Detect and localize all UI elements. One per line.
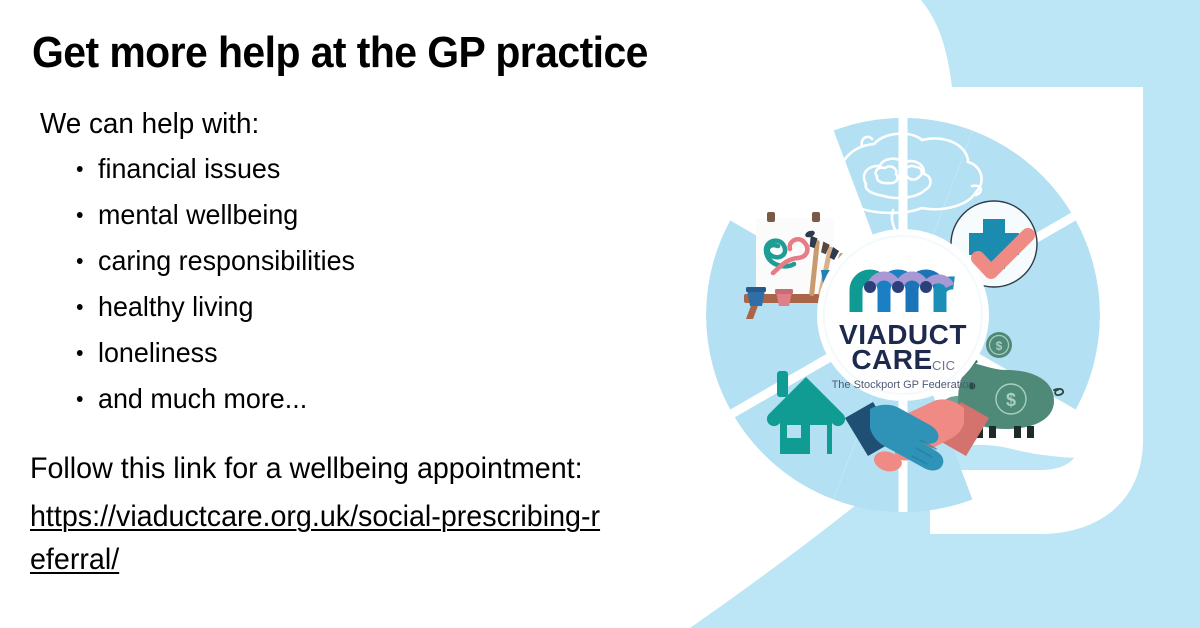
house-door — [810, 425, 827, 454]
referral-link[interactable]: https://viaductcare.org.uk/social-prescr… — [30, 496, 603, 581]
house-chimney — [777, 371, 788, 397]
bullet-icon — [77, 396, 83, 402]
list-item-label: financial issues — [98, 153, 280, 184]
list-item-label: caring responsibilities — [98, 245, 355, 276]
house-window — [787, 425, 801, 438]
list-item: loneliness — [98, 339, 355, 367]
bullet-icon — [77, 304, 83, 310]
bullet-icon — [77, 212, 83, 218]
logo-suffix: CIC — [932, 358, 955, 373]
piggy-bank-coin: $ — [986, 332, 1012, 358]
piggy-body-symbol: $ — [1006, 390, 1016, 410]
bullet-icon — [77, 166, 83, 172]
piggy-coin-symbol: $ — [996, 339, 1003, 353]
text-content: Get more help at the GP practice We can … — [0, 0, 770, 628]
list-item-label: healthy living — [98, 291, 253, 322]
poster-canvas: Get more help at the GP practice We can … — [0, 0, 1200, 628]
list-item: healthy living — [98, 293, 355, 321]
bullet-icon — [77, 350, 83, 356]
list-item-label: mental wellbeing — [98, 199, 298, 230]
list-item: financial issues — [98, 155, 355, 183]
help-topics-list: financial issues mental wellbeing caring… — [70, 155, 366, 431]
logo-name-line-2: CARE — [851, 344, 932, 375]
background-shape-right-band — [1140, 87, 1200, 461]
bullet-icon — [77, 258, 83, 264]
wheel-center-logo: VIADUCT CARE CIC The Stockport GP Federa… — [817, 229, 989, 401]
call-to-action-text: Follow this link for a wellbeing appoint… — [30, 452, 583, 486]
list-item: mental wellbeing — [98, 201, 355, 229]
intro-text: We can help with: — [40, 108, 259, 141]
list-item-label: and much more... — [98, 383, 307, 414]
background-shape-top-right — [921, 0, 1200, 87]
list-item-label: loneliness — [98, 337, 218, 368]
list-item: and much more... — [98, 385, 355, 413]
list-item: caring responsibilities — [98, 247, 355, 275]
page-title: Get more help at the GP practice — [32, 30, 648, 76]
logo-tagline: The Stockport GP Federation — [832, 379, 975, 391]
